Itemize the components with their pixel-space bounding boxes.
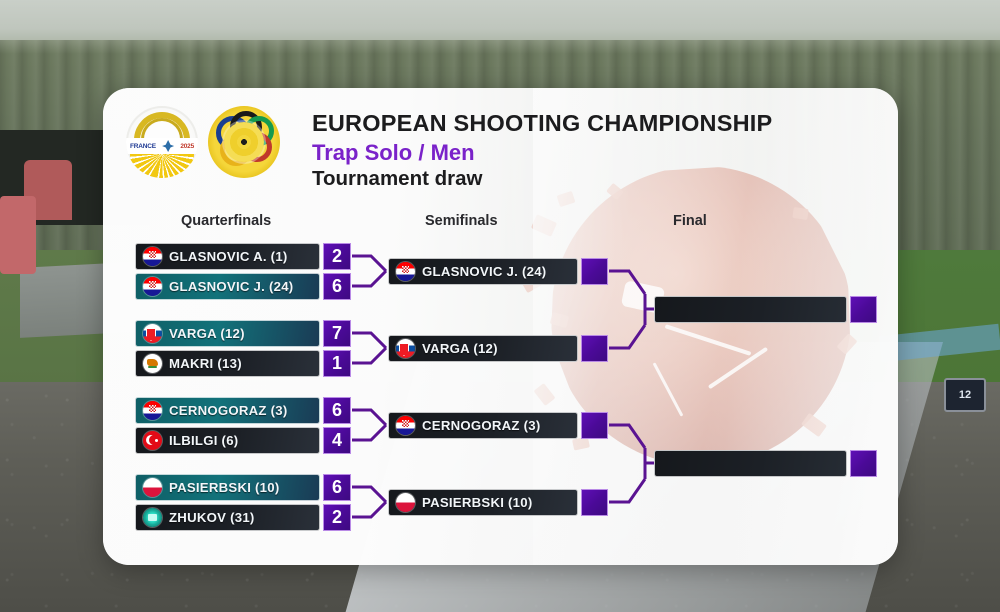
player-namebox[interactable]: PASIERBSKI (10) [388, 489, 578, 516]
flag-croatia-icon [143, 277, 162, 296]
background-score-display: 12 [944, 378, 986, 412]
score-box: 4 [323, 427, 351, 454]
score-box: 2 [323, 504, 351, 531]
player-namebox[interactable]: PASIERBSKI (10) [135, 474, 320, 501]
score-box: 7 [323, 320, 351, 347]
player-name: CERNOGORAZ (3) [169, 403, 288, 418]
score-box: 6 [323, 273, 351, 300]
score-box [581, 489, 608, 516]
bracket-slot-sf1-top[interactable]: GLASNOVIC J. (24) [388, 258, 608, 285]
score-box [581, 412, 608, 439]
player-namebox[interactable]: MAKRI (13) [135, 350, 320, 377]
player-namebox[interactable]: VARGA (12) [388, 335, 578, 362]
player-namebox[interactable]: VARGA (12) [135, 320, 320, 347]
player-name: VARGA (12) [169, 326, 245, 341]
flag-turkey-icon [143, 431, 162, 450]
flag-neutral-icon [143, 508, 162, 527]
player-namebox[interactable]: ZHUKOV (31) [135, 504, 320, 531]
player-name: ZHUKOV (31) [169, 510, 255, 525]
flag-croatia-icon [143, 247, 162, 266]
player-name: GLASNOVIC A. (1) [169, 249, 288, 264]
player-namebox[interactable] [654, 296, 847, 323]
bracket-slot-qf1-bottom[interactable]: GLASNOVIC J. (24) 6 [135, 273, 351, 300]
bracket-slot-qf3-top[interactable]: CERNOGORAZ (3) 6 [135, 397, 351, 424]
bracket-slot-final-top[interactable] [654, 296, 877, 323]
player-namebox[interactable]: GLASNOVIC J. (24) [135, 273, 320, 300]
player-name: GLASNOVIC J. (24) [169, 279, 293, 294]
player-name: PASIERBSKI (10) [422, 495, 533, 510]
player-namebox[interactable]: CERNOGORAZ (3) [388, 412, 578, 439]
player-name: VARGA (12) [422, 341, 498, 356]
flag-croatia-icon [396, 416, 415, 435]
flag-slovakia-icon [396, 339, 415, 358]
bracket-slot-qf1-top[interactable]: GLASNOVIC A. (1) 2 [135, 243, 351, 270]
bracket: GLASNOVIC A. (1) 2 GLASNOVIC J. (24) 6 [103, 88, 898, 565]
flag-croatia-icon [396, 262, 415, 281]
player-namebox[interactable]: ILBILGI (6) [135, 427, 320, 454]
bracket-slot-final-bottom[interactable] [654, 450, 877, 477]
player-namebox[interactable]: GLASNOVIC J. (24) [388, 258, 578, 285]
bracket-slot-qf2-bottom[interactable]: MAKRI (13) 1 [135, 350, 351, 377]
flag-slovakia-icon [143, 324, 162, 343]
player-namebox[interactable] [654, 450, 847, 477]
bracket-slot-sf1-bottom[interactable]: VARGA (12) [388, 335, 608, 362]
background-red-chair [0, 196, 36, 274]
score-box [581, 335, 608, 362]
bracket-slot-sf2-top[interactable]: CERNOGORAZ (3) [388, 412, 608, 439]
player-name: ILBILGI (6) [169, 433, 238, 448]
flag-poland-icon [143, 478, 162, 497]
player-namebox[interactable]: CERNOGORAZ (3) [135, 397, 320, 424]
bracket-slot-qf4-top[interactable]: PASIERBSKI (10) 6 [135, 474, 351, 501]
bracket-slot-qf2-top[interactable]: VARGA (12) 7 [135, 320, 351, 347]
score-box [850, 296, 877, 323]
flag-croatia-icon [143, 401, 162, 420]
score-box [581, 258, 608, 285]
bracket-slot-sf2-bottom[interactable]: PASIERBSKI (10) [388, 489, 608, 516]
player-namebox[interactable]: GLASNOVIC A. (1) [135, 243, 320, 270]
flag-poland-icon [396, 493, 415, 512]
score-box: 6 [323, 474, 351, 501]
score-box: 6 [323, 397, 351, 424]
player-name: MAKRI (13) [169, 356, 242, 371]
flag-cyprus-icon [143, 354, 162, 373]
score-box [850, 450, 877, 477]
player-name: GLASNOVIC J. (24) [422, 264, 546, 279]
player-name: CERNOGORAZ (3) [422, 418, 541, 433]
screenshot-root: 12 [0, 0, 1000, 612]
bracket-slot-qf4-bottom[interactable]: ZHUKOV (31) 2 [135, 504, 351, 531]
tournament-draw-panel: FRANCE 2025 EUROPEAN SHOOTING [103, 88, 898, 565]
score-box: 2 [323, 243, 351, 270]
score-box: 1 [323, 350, 351, 377]
bracket-slot-qf3-bottom[interactable]: ILBILGI (6) 4 [135, 427, 351, 454]
player-name: PASIERBSKI (10) [169, 480, 280, 495]
